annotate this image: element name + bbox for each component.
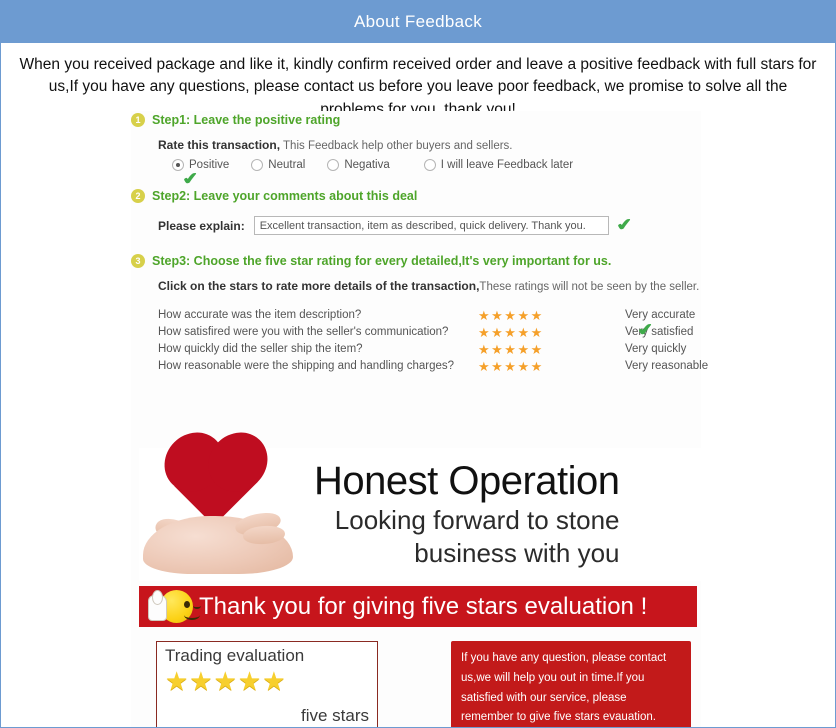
radio-option-negativa[interactable]: Negativa xyxy=(327,159,389,171)
click-stars-bold: Click on the stars to rate more details … xyxy=(158,279,479,293)
rate-transaction-lead: Rate this transaction, This Feedback hel… xyxy=(158,138,711,152)
rating-word: Very reasonable xyxy=(625,358,708,375)
step-3-body: Click on the stars to rate more details … xyxy=(131,279,711,293)
rating-question: How reasonable were the shipping and han… xyxy=(158,358,478,375)
trading-evaluation-stars: ★★★★★ xyxy=(165,668,369,694)
step-3-badge: 3 xyxy=(131,254,145,268)
rating-word: Very quickly xyxy=(625,341,708,358)
trading-evaluation-subtitle: five stars xyxy=(301,706,369,726)
thanks-banner-text: Thank you for giving five stars evaluati… xyxy=(199,593,647,621)
trading-evaluation-box: Trading evaluation ★★★★★ five stars xyxy=(156,641,378,728)
radio-label-feedback-later: I will leave Feedback later xyxy=(441,159,573,171)
step-2-badge: 2 xyxy=(131,189,145,203)
step-3-title: Step3: Choose the five star rating for e… xyxy=(152,254,611,268)
checkmark-icon-positive: ✔ xyxy=(181,171,200,189)
click-stars-lead: Click on the stars to rate more details … xyxy=(158,279,711,293)
radio-icon-feedback-later[interactable] xyxy=(424,159,436,171)
explain-input[interactable] xyxy=(254,216,609,235)
rating-stars[interactable]: ★★★★★ xyxy=(478,307,625,324)
step-2-heading: 2 Step2: Leave your comments about this … xyxy=(131,189,711,203)
ratings-stars-column: ★★★★★ ★★★★★ ★★★★★ ★★★★★ xyxy=(478,307,625,375)
radio-option-feedback-later[interactable]: I will leave Feedback later xyxy=(424,159,573,171)
step-1-heading: 1 Step1: Leave the positive rating xyxy=(131,113,711,127)
checkmark-icon-ratings: ✔ xyxy=(636,322,655,340)
radio-label-positive: Positive xyxy=(189,159,229,171)
step-1-badge: 1 xyxy=(131,113,145,127)
rating-word: Very accurate xyxy=(625,307,708,324)
radio-label-neutral: Neutral xyxy=(268,159,305,171)
bottom-boxes-row: Trading evaluation ★★★★★ five stars If y… xyxy=(156,641,691,728)
smiley-eye xyxy=(184,601,190,608)
steps-container: 1 Step1: Leave the positive rating Rate … xyxy=(131,113,711,375)
step-2-title: Step2: Leave your comments about this de… xyxy=(152,189,417,203)
rating-stars[interactable]: ★★★★★ xyxy=(478,324,625,341)
thanks-banner: Thank you for giving five stars evaluati… xyxy=(139,586,697,627)
title-bar: About Feedback xyxy=(0,0,836,43)
trading-evaluation-title: Trading evaluation xyxy=(165,646,369,666)
rating-question: How quickly did the seller ship the item… xyxy=(158,341,478,358)
heart-icon xyxy=(174,442,257,525)
honest-heading: Honest Operation xyxy=(314,460,620,502)
radio-icon-neutral[interactable] xyxy=(251,159,263,171)
ratings-question-column: How accurate was the item description? H… xyxy=(158,307,478,375)
radio-icon-negativa[interactable] xyxy=(327,159,339,171)
smiley-wink-eye xyxy=(193,603,201,609)
step-1-body: Rate this transaction, This Feedback hel… xyxy=(131,138,711,171)
hand-holding-heart-image xyxy=(139,448,314,581)
radio-option-neutral[interactable]: Neutral xyxy=(251,159,305,171)
contact-note-box: If you have any question, please contact… xyxy=(451,641,691,728)
rate-transaction-bold: Rate this transaction, xyxy=(158,138,280,152)
step-3-heading: 3 Step3: Choose the five star rating for… xyxy=(131,254,711,268)
rating-stars[interactable]: ★★★★★ xyxy=(478,358,625,375)
rating-question: How satisfired were you with the seller'… xyxy=(158,324,478,341)
radio-label-negativa: Negativa xyxy=(344,159,389,171)
step-1-title: Step1: Leave the positive rating xyxy=(152,113,340,127)
rating-radio-group: Positive Neutral Negativa I will leave F… xyxy=(158,159,711,171)
checkmark-icon-explain: ✔ xyxy=(615,217,634,235)
honest-banner-inner: Honest Operation Looking forward to ston… xyxy=(139,448,701,581)
step-2-body: Please explain: ✔ xyxy=(131,216,711,235)
rating-stars[interactable]: ★★★★★ xyxy=(478,341,625,358)
click-stars-rest: These ratings will not be seen by the se… xyxy=(479,281,699,293)
step-2: 2 Step2: Leave your comments about this … xyxy=(131,189,711,235)
page-title: About Feedback xyxy=(354,12,482,32)
smiley-mouth xyxy=(184,610,200,620)
radio-option-positive[interactable]: Positive xyxy=(172,159,229,171)
honest-subheading-line-1: Looking forward to stone xyxy=(314,506,620,535)
honest-banner-text: Honest Operation Looking forward to ston… xyxy=(314,448,620,568)
explain-label: Please explain: xyxy=(158,219,245,233)
rate-transaction-rest: This Feedback help other buyers and sell… xyxy=(280,140,512,152)
honest-operation-banner: Honest Operation Looking forward to ston… xyxy=(139,448,701,581)
ratings-word-column: Very accurate Very satisfied Very quickl… xyxy=(625,307,708,375)
intro-paragraph: When you received package and like it, k… xyxy=(1,43,835,121)
step-3: 3 Step3: Choose the five star rating for… xyxy=(131,254,711,375)
rating-question: How accurate was the item description? xyxy=(158,307,478,324)
explain-row: Please explain: ✔ xyxy=(158,216,711,235)
step-1: 1 Step1: Leave the positive rating Rate … xyxy=(131,113,711,171)
honest-subheading-line-2: business with you xyxy=(314,539,620,568)
thumbs-up-icon xyxy=(148,595,167,621)
ratings-table: How accurate was the item description? H… xyxy=(131,307,711,375)
content-area: When you received package and like it, k… xyxy=(0,43,836,728)
winking-smiley-thumbs-up-icon xyxy=(147,589,193,625)
radio-icon-positive[interactable] xyxy=(172,159,184,171)
